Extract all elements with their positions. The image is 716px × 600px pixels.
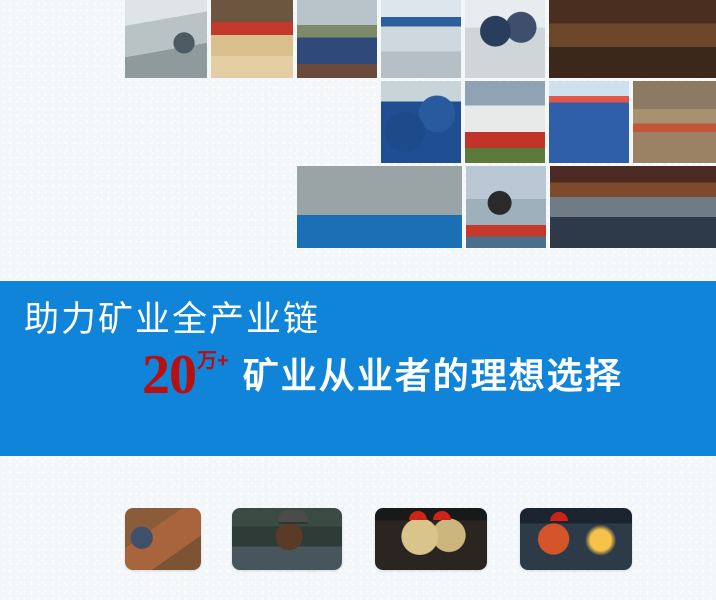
photo-executive-office-image [549, 0, 716, 78]
red-helmet-icon [409, 511, 427, 520]
promo-headline-tail: 矿业从业者的理想选择 [243, 356, 623, 396]
photo-two-engineers-image [465, 0, 545, 78]
photo-flotation-bottles-image [381, 0, 461, 78]
photo-banner-event-image [465, 81, 545, 163]
photo-executive-office [549, 0, 716, 78]
photo-mine-site-crew-image [633, 81, 716, 163]
thumb-smelter-worker[interactable] [520, 508, 632, 570]
photo-sample-pouring [466, 166, 546, 248]
thumb-female-workers[interactable] [375, 508, 487, 570]
photo-lab-operator [125, 0, 207, 78]
hard-hat-icon [278, 510, 308, 522]
photo-company-signboard [297, 166, 462, 248]
photo-flotation-bottles [381, 0, 461, 78]
photo-company-signboard-image [297, 166, 462, 248]
photo-industry-conference-image [550, 166, 716, 248]
user-count-number: 20 [142, 349, 196, 401]
photo-training-group [549, 81, 629, 163]
photo-field-team-mountain [297, 0, 377, 78]
photo-award-ceremony [211, 0, 293, 78]
audience-thumbnail-strip [0, 460, 716, 600]
photo-industry-conference [550, 166, 716, 248]
photo-staff-selfie-image [381, 81, 461, 163]
photo-field-team-mountain-image [297, 0, 377, 78]
promo-page: 助力矿业全产业链 20 万+ 矿业从业者的理想选择 [0, 0, 716, 600]
promo-banner: 助力矿业全产业链 20 万+ 矿业从业者的理想选择 [0, 281, 716, 456]
company-photo-collage [0, 0, 716, 268]
photo-two-engineers [465, 0, 545, 78]
red-helmet-icon [550, 512, 568, 521]
photo-lab-operator-image [125, 0, 207, 78]
photo-training-group-image [549, 81, 629, 163]
photo-award-ceremony-image [211, 0, 293, 78]
user-count-suffix: 万+ [197, 351, 229, 371]
promo-headline-line1: 助力矿业全产业链 [24, 300, 320, 340]
photo-staff-selfie [381, 81, 461, 163]
red-helmet-icon [433, 511, 451, 520]
photo-mine-site-crew [633, 81, 716, 163]
thumb-geologist-prospecting[interactable] [125, 508, 201, 570]
photo-sample-pouring-image [466, 166, 546, 248]
photo-banner-event [465, 81, 545, 163]
thumb-smiling-miner[interactable] [232, 508, 342, 570]
promo-headline-line2: 20 万+ 矿业从业者的理想选择 [142, 349, 623, 401]
